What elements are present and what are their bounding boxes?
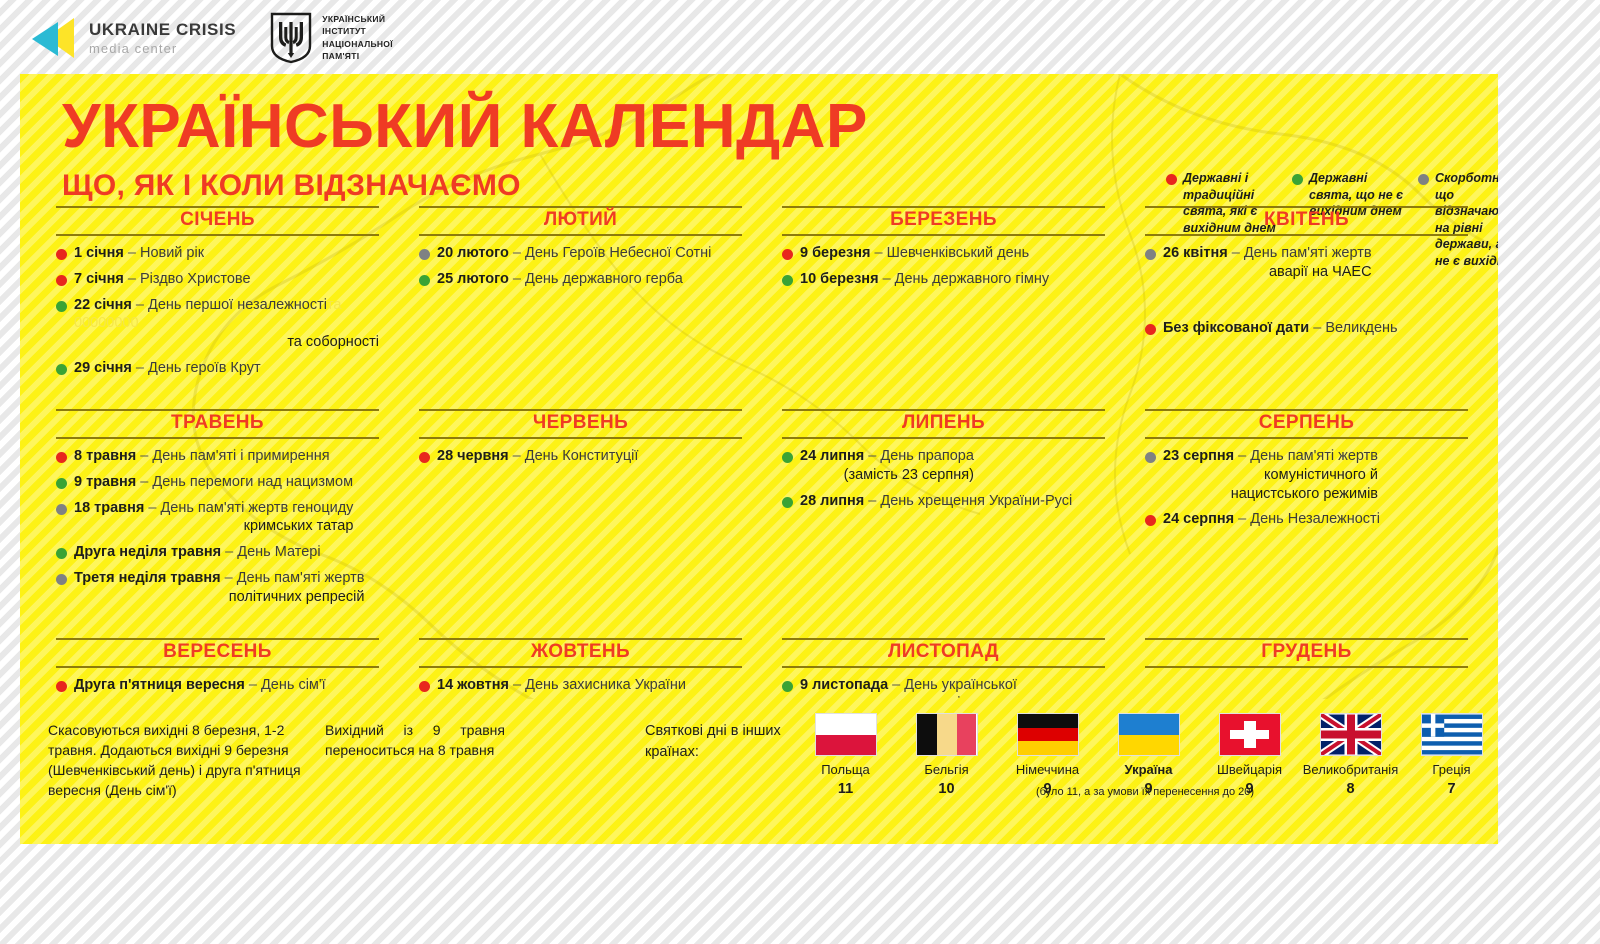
- event-separator: –: [892, 677, 900, 693]
- event-name: День перемоги над нацизмом: [152, 474, 353, 490]
- event-date: 28 липня: [800, 493, 864, 509]
- country-belgium: Бельгія10: [896, 713, 997, 797]
- event-separator: –: [140, 474, 148, 490]
- event-list: 20 лютого – День Героїв Небесної Сотні25…: [419, 244, 742, 289]
- event-name: День пам'яті жертв: [1244, 245, 1372, 261]
- event-date: Друга п'ятниця вересня: [74, 677, 245, 693]
- event-name-cont: кримських татар: [74, 517, 353, 536]
- ucmc-name: UKRAINE CRISIS: [89, 21, 236, 38]
- event-text: 24 серпня – День Незалежності: [1163, 510, 1380, 529]
- month-block-серпень: СЕРПЕНЬ23 серпня – День пам'яті жертвком…: [1125, 409, 1488, 614]
- event-text: 18 травня – День пам'яті жертв геноцидук…: [74, 499, 353, 537]
- event-dot-grey-icon: [1145, 249, 1156, 260]
- event-text: 9 травня – День перемоги над нацизмом: [74, 473, 353, 492]
- event-separator: –: [1313, 320, 1321, 336]
- foreign-holidays-label: Святкові дні в інших країнах:: [645, 721, 795, 762]
- event-text: 26 квітня – День пам'яті жертваварії на …: [1163, 244, 1372, 282]
- event-row[interactable]: 20 лютого – День Героїв Небесної Сотні: [419, 244, 742, 263]
- event-date: 20 лютого: [437, 245, 509, 261]
- event-list: 14 жовтня – День захисника України: [419, 676, 742, 695]
- event-name: День захисника України: [525, 677, 686, 693]
- month-title: ЛИПЕНЬ: [782, 409, 1105, 439]
- event-row[interactable]: Друга неділя травня – День Матері: [56, 543, 379, 562]
- country-holiday-count: 11: [795, 781, 896, 797]
- event-list: 9 березня – Шевченківський день10 березн…: [782, 244, 1105, 289]
- event-text: Без фіксованої дати – Великдень: [1163, 319, 1398, 338]
- footer-panel: Скасовуються вихідні 8 березня, 1-2 трав…: [20, 699, 1498, 844]
- event-text: 23 серпня – День пам'яті жертвкомуністич…: [1163, 447, 1378, 504]
- event-date: 10 березня: [800, 271, 879, 287]
- flag-ukraine-icon: [1118, 713, 1180, 756]
- event-name: День пам'яті жертв: [1250, 448, 1378, 464]
- main-panel: УКРАЇНСЬКИЙ КАЛЕНДАР ЩО, ЯК І КОЛИ ВІДЗН…: [20, 74, 1498, 699]
- event-list: 9 листопада – День українськоїписемності…: [782, 676, 1105, 699]
- event-row[interactable]: 7 січня – Різдво Христове: [56, 270, 379, 289]
- event-separator: –: [225, 544, 233, 560]
- event-row[interactable]: 9 листопада – День українськоїписемності…: [782, 676, 1105, 699]
- event-date: Без фіксованої дати: [1163, 320, 1309, 336]
- event-separator: –: [1238, 511, 1246, 527]
- country-greece: Греція7: [1401, 713, 1498, 797]
- event-separator: –: [513, 245, 521, 261]
- event-row[interactable]: 25 лютого – День державного герба: [419, 270, 742, 289]
- event-row[interactable]: Третя неділя травня – День пам'яті жертв…: [56, 569, 379, 607]
- event-dot-green-icon: [56, 301, 67, 312]
- event-date: 14 жовтня: [437, 677, 509, 693]
- event-separator: –: [868, 448, 876, 464]
- event-separator: –: [128, 245, 136, 261]
- country-name: Швейцарія: [1199, 762, 1300, 778]
- event-name: День пам'яті і примирення: [152, 448, 329, 464]
- event-spacer: [1145, 289, 1468, 319]
- event-row[interactable]: Без фіксованої дати – Великдень: [1145, 319, 1468, 338]
- uinp-logo: УКРАЇНСЬКИЙІНСТИТУТНАЦІОНАЛЬНОЇПАМ'ЯТІ: [270, 12, 393, 64]
- month-block-вересень: ВЕРЕСЕНЬДруга п'ятниця вересня – День сі…: [36, 638, 399, 699]
- country-name: Польща: [795, 762, 896, 778]
- event-date: 29 січня: [74, 360, 132, 376]
- event-date: 25 лютого: [437, 271, 509, 287]
- event-separator: –: [136, 297, 144, 313]
- event-dot-green-icon: [56, 548, 67, 559]
- event-list: 8 травня – День пам'яті і примирення9 тр…: [56, 447, 379, 607]
- event-name: День Героїв Небесної Сотні: [525, 245, 711, 261]
- event-separator: –: [883, 271, 891, 287]
- month-block-березень: БЕРЕЗЕНЬ9 березня – Шевченківський день1…: [762, 206, 1125, 385]
- event-date: 1 січня: [74, 245, 124, 261]
- flag-greece-icon: [1421, 713, 1483, 756]
- event-dot-red-icon: [1145, 324, 1156, 335]
- event-date: 9 листопада: [800, 677, 888, 693]
- flag-uk-icon: [1320, 713, 1382, 756]
- page-title: УКРАЇНСЬКИЙ КАЛЕНДАР: [62, 96, 868, 158]
- event-dot-red-icon: [1145, 515, 1156, 526]
- event-separator: –: [136, 360, 144, 376]
- event-separator: –: [128, 271, 136, 287]
- month-title: СЕРПЕНЬ: [1145, 409, 1468, 439]
- event-name: Новий рік: [140, 245, 204, 261]
- country-name: Бельгія: [896, 762, 997, 778]
- country-holiday-count: 7: [1401, 781, 1498, 797]
- event-dot-red-icon: [56, 452, 67, 463]
- event-dot-green-icon: [56, 478, 67, 489]
- legend-dot-green-icon: [1292, 174, 1303, 185]
- country-uk: Великобританія8: [1300, 713, 1401, 797]
- event-name-cont: політичних репресій: [74, 588, 364, 607]
- flag-belgium-icon: [916, 713, 978, 756]
- event-name: День пам'яті жертв: [237, 570, 365, 586]
- event-row[interactable]: 10 березня – День державного гімну: [782, 270, 1105, 289]
- event-date: 9 березня: [800, 245, 870, 261]
- event-name: День державного гімну: [895, 271, 1049, 287]
- event-text: Друга неділя травня – День Матері: [74, 543, 321, 562]
- event-row[interactable]: 24 серпня – День Незалежності: [1145, 510, 1468, 529]
- event-date: Друга неділя травня: [74, 544, 221, 560]
- uinp-name: УКРАЇНСЬКИЙІНСТИТУТНАЦІОНАЛЬНОЇПАМ'ЯТІ: [322, 13, 393, 61]
- event-text: 9 березня – Шевченківський день: [800, 244, 1029, 263]
- event-name: День Конституції: [525, 448, 639, 464]
- event-date: 28 червня: [437, 448, 509, 464]
- month-title: ТРАВЕНЬ: [56, 409, 379, 439]
- event-text: 28 липня – День хрещення України-Русі: [800, 492, 1072, 511]
- event-dot-grey-icon: [56, 504, 67, 515]
- page-subtitle: ЩО, ЯК І КОЛИ ВІДЗНАЧАЄМО: [62, 169, 868, 203]
- event-dot-grey-icon: [1145, 452, 1156, 463]
- event-text: Друга п'ятниця вересня – День сім'ї: [74, 676, 326, 695]
- month-title: ЧЕРВЕНЬ: [419, 409, 742, 439]
- event-dot-green-icon: [419, 275, 430, 286]
- legend-dot-red-icon: [1166, 174, 1177, 185]
- event-text: 28 червня – День Конституції: [437, 447, 638, 466]
- event-row[interactable]: 24 липня – День прапора(замість 23 серпн…: [782, 447, 1105, 485]
- event-row[interactable]: 18 травня – День пам'яті жертв геноцидук…: [56, 499, 379, 537]
- event-list: 23 серпня – День пам'яті жертвкомуністич…: [1145, 447, 1468, 529]
- event-name: Шевченківський день: [887, 245, 1030, 261]
- event-list: 1 січня – Новий рік7 січня – Різдво Хрис…: [56, 244, 379, 378]
- event-separator: –: [1238, 448, 1246, 464]
- footer-note-2: Вихідний із 9 травня переноситься на 8 т…: [325, 721, 505, 761]
- month-title: БЕРЕЗЕНЬ: [782, 206, 1105, 236]
- event-separator: –: [875, 245, 883, 261]
- event-date: 24 липня: [800, 448, 864, 464]
- event-dot-green-icon: [56, 364, 67, 375]
- month-title: КВІТЕНЬ: [1145, 206, 1468, 236]
- event-row[interactable]: Друга п'ятниця вересня – День сім'ї: [56, 676, 379, 695]
- event-text: 20 лютого – День Героїв Небесної Сотні: [437, 244, 711, 263]
- event-row[interactable]: 26 квітня – День пам'яті жертваварії на …: [1145, 244, 1468, 282]
- event-name-cont: писемності та мови: [800, 694, 1017, 699]
- month-title: ГРУДЕНЬ: [1145, 638, 1468, 668]
- event-separator: –: [868, 493, 876, 509]
- event-name: День Матері: [237, 544, 320, 560]
- event-name: День української: [904, 677, 1017, 693]
- logo-bar: UKRAINE CRISIS media center: [0, 0, 1600, 75]
- event-separator: –: [513, 448, 521, 464]
- event-row[interactable]: 22 січня – День першої незалежностіта 00…: [56, 296, 379, 353]
- flag-germany-icon: [1017, 713, 1079, 756]
- event-list: 24 липня – День прапора(замість 23 серпн…: [782, 447, 1105, 511]
- event-text: Третя неділя травня – День пам'яті жертв…: [74, 569, 364, 607]
- month-block-липень: ЛИПЕНЬ24 липня – День прапора(замість 23…: [762, 409, 1125, 614]
- event-date: 8 травня: [74, 448, 136, 464]
- event-text: 8 травня – День пам'яті і примирення: [74, 447, 330, 466]
- event-date: 7 січня: [74, 271, 124, 287]
- ucmc-subtitle: media center: [89, 42, 236, 55]
- event-row[interactable]: 1 січня – Новий рік: [56, 244, 379, 263]
- event-date: 9 травня: [74, 474, 136, 490]
- infographic-page: UKRAINE CRISIS media center: [0, 0, 1600, 944]
- month-title: СІЧЕНЬ: [56, 206, 379, 236]
- month-block-жовтень: ЖОВТЕНЬ14 жовтня – День захисника Україн…: [399, 638, 762, 699]
- event-date: 22 січня: [74, 297, 132, 313]
- event-row[interactable]: 9 травня – День перемоги над нацизмом: [56, 473, 379, 492]
- legend-dot-grey-icon: [1418, 174, 1429, 185]
- month-block-листопад: ЛИСТОПАД9 листопада – День українськоїпи…: [762, 638, 1125, 699]
- event-separator: –: [513, 271, 521, 287]
- month-title: ВЕРЕСЕНЬ: [56, 638, 379, 668]
- month-title: ЛЮТИЙ: [419, 206, 742, 236]
- month-title: ЖОВТЕНЬ: [419, 638, 742, 668]
- event-dot-red-icon: [56, 275, 67, 286]
- event-separator: –: [225, 570, 233, 586]
- event-list: Друга п'ятниця вересня – День сім'ї29 ве…: [56, 676, 379, 699]
- event-name: Різдво Христове: [140, 271, 251, 287]
- event-date: 18 травня: [74, 500, 144, 516]
- event-dot-red-icon: [419, 681, 430, 692]
- month-grid: СІЧЕНЬ1 січня – Новий рік7 січня – Різдв…: [36, 206, 1488, 699]
- month-block-травень: ТРАВЕНЬ8 травня – День пам'яті і примире…: [36, 409, 399, 614]
- event-row[interactable]: 28 червня – День Конституції: [419, 447, 742, 466]
- event-name: День державного герба: [525, 271, 683, 287]
- event-dot-green-icon: [782, 681, 793, 692]
- event-name: День Незалежності: [1250, 511, 1380, 527]
- month-block-січень: СІЧЕНЬ1 січня – Новий рік7 січня – Різдв…: [36, 206, 399, 385]
- event-name: День прапора: [880, 448, 974, 464]
- event-name-cont: (замість 23 серпня): [800, 466, 974, 485]
- event-text: 7 січня – Різдво Христове: [74, 270, 251, 289]
- event-separator: –: [140, 448, 148, 464]
- event-name: День першої незалежності: [148, 297, 327, 313]
- event-dot-red-icon: [56, 681, 67, 692]
- event-name: День пам'яті жертв геноциду: [160, 500, 353, 516]
- month-block-квітень: КВІТЕНЬ26 квітня – День пам'яті жертвава…: [1125, 206, 1488, 385]
- country-poland: Польща11: [795, 713, 896, 797]
- event-row[interactable]: 8 травня – День пам'яті і примирення: [56, 447, 379, 466]
- event-dot-green-icon: [782, 497, 793, 508]
- event-row[interactable]: 29 січня – День героїв Крут: [56, 359, 379, 378]
- event-list: 28 червня – День Конституції: [419, 447, 742, 466]
- event-dot-grey-icon: [56, 574, 67, 585]
- event-name: Великдень: [1325, 320, 1397, 336]
- event-text: 9 листопада – День українськоїписемності…: [800, 676, 1017, 699]
- event-date: 24 серпня: [1163, 511, 1234, 527]
- country-name: Великобританія: [1300, 762, 1401, 778]
- event-name-cont2: нацистського режимів: [1163, 485, 1378, 504]
- title-block: УКРАЇНСЬКИЙ КАЛЕНДАР ЩО, ЯК І КОЛИ ВІДЗН…: [62, 96, 868, 203]
- event-dot-green-icon: [782, 275, 793, 286]
- tryzub-shield-icon: [270, 12, 312, 64]
- event-text: 22 січня – День першої незалежностіта 00…: [74, 296, 379, 353]
- event-name: День хрещення України-Русі: [880, 493, 1072, 509]
- event-name-cont: та соборності: [74, 333, 379, 352]
- event-date: 26 квітня: [1163, 245, 1228, 261]
- event-name-cont: аварії на ЧАЕС: [1163, 263, 1372, 282]
- event-text: 25 лютого – День державного герба: [437, 270, 683, 289]
- country-name: Україна: [1098, 762, 1199, 778]
- event-row[interactable]: 9 березня – Шевченківський день: [782, 244, 1105, 263]
- ucmc-logo: UKRAINE CRISIS media center: [30, 16, 236, 60]
- event-dot-red-icon: [56, 249, 67, 260]
- ukraine-footnote: (було 11, а за умови їх перенесення до 2…: [1020, 785, 1270, 799]
- month-block-грудень: ГРУДЕНЬ: [1125, 638, 1488, 699]
- event-name: День героїв Крут: [148, 360, 261, 376]
- ucmc-triangle-icon: [30, 16, 76, 60]
- event-separator: –: [513, 677, 521, 693]
- event-separator: –: [1232, 245, 1240, 261]
- event-separator: –: [249, 677, 257, 693]
- event-text: 29 січня – День героїв Крут: [74, 359, 261, 378]
- event-row[interactable]: 28 липня – День хрещення України-Русі: [782, 492, 1105, 511]
- event-date: 23 серпня: [1163, 448, 1234, 464]
- country-holiday-count: 10: [896, 781, 997, 797]
- event-dot-red-icon: [782, 249, 793, 260]
- month-title: ЛИСТОПАД: [782, 638, 1105, 668]
- event-dot-green-icon: [782, 452, 793, 463]
- event-text: 24 липня – День прапора(замість 23 серпн…: [800, 447, 974, 485]
- month-block-червень: ЧЕРВЕНЬ28 червня – День Конституції: [399, 409, 762, 614]
- event-dot-grey-icon: [419, 249, 430, 260]
- event-text: 14 жовтня – День захисника України: [437, 676, 686, 695]
- event-separator: –: [148, 500, 156, 516]
- country-holiday-count: 8: [1300, 781, 1401, 797]
- footer-note-1: Скасовуються вихідні 8 березня, 1-2 трав…: [48, 721, 323, 801]
- month-block-лютий: ЛЮТИЙ20 лютого – День Героїв Небесної Со…: [399, 206, 762, 385]
- country-name: Греція: [1401, 762, 1498, 778]
- event-text: 10 березня – День державного гімну: [800, 270, 1049, 289]
- country-name: Німеччина: [997, 762, 1098, 778]
- event-name-cont: комуністичного й: [1163, 466, 1378, 485]
- event-text: 1 січня – Новий рік: [74, 244, 204, 263]
- event-dot-red-icon: [419, 452, 430, 463]
- event-row[interactable]: 23 серпня – День пам'яті жертвкомуністич…: [1145, 447, 1468, 504]
- event-date: Третя неділя травня: [74, 570, 221, 586]
- event-list: 26 квітня – День пам'яті жертваварії на …: [1145, 244, 1468, 338]
- event-row[interactable]: 14 жовтня – День захисника України: [419, 676, 742, 695]
- flag-poland-icon: [815, 713, 877, 756]
- flag-swiss-icon: [1219, 713, 1281, 756]
- event-name: День сім'ї: [261, 677, 326, 693]
